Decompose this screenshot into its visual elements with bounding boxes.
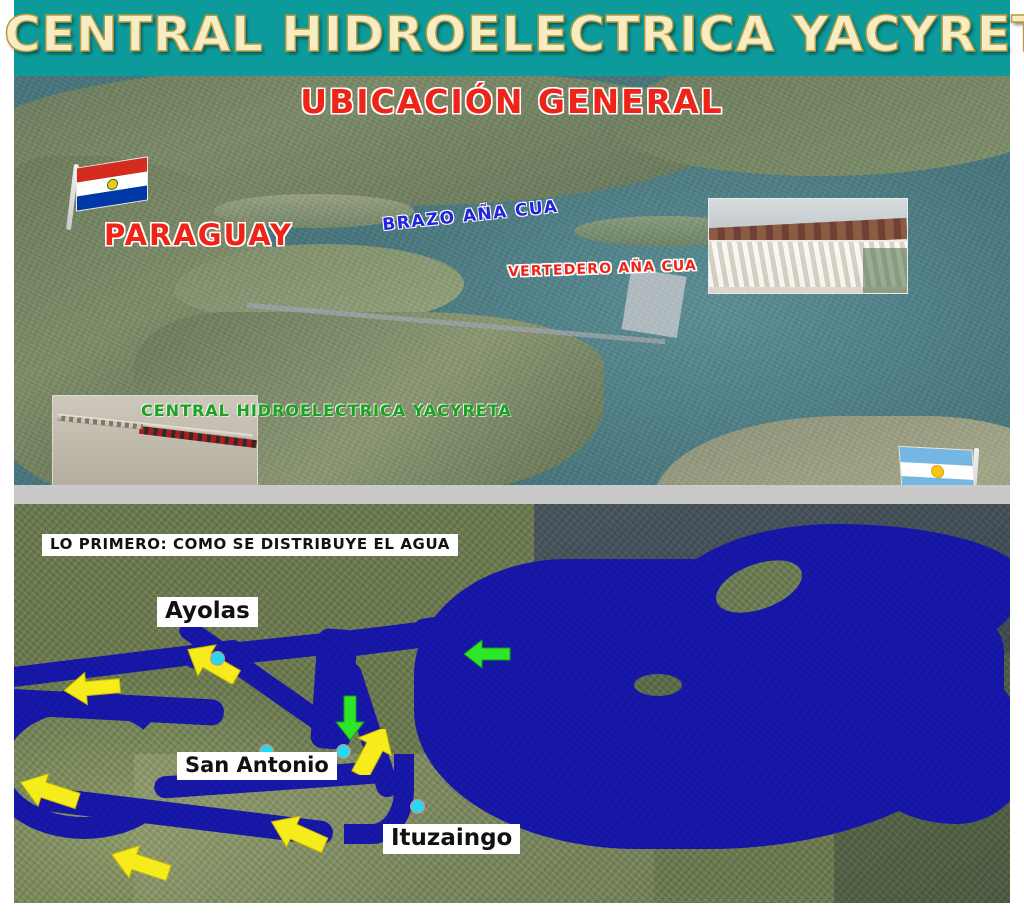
yellow-arrow-3 bbox=[19, 772, 81, 812]
place-label-ituzaingo: Ituzaingo bbox=[383, 824, 520, 854]
section-divider bbox=[14, 485, 1010, 504]
subtitle-text: UBICACIÓN GENERAL bbox=[300, 82, 723, 121]
top-satellite-map: UBICACIÓN GENERAL PARAGUAY ARGENTINA BRA… bbox=[14, 76, 1010, 485]
green-left-arrow-vbac bbox=[464, 638, 512, 670]
place-label-ayolas: Ayolas bbox=[157, 597, 258, 627]
locality-dot-san-antonio bbox=[336, 744, 351, 759]
page-title: CENTRAL HIDROELECTRICA YACYRETA bbox=[4, 6, 1020, 63]
feature-label-central-hidroelectrica: CENTRAL HIDROELECTRICA YACYRETA bbox=[141, 401, 512, 420]
green-down-arrow-chy-vbp bbox=[334, 694, 366, 742]
slide-root: CENTRAL HIDROELECTRICA YACYRETA UBICACIÓ… bbox=[0, 0, 1024, 917]
bottom-distribution-map: LO PRIMERO: COMO SE DISTRIBUYE EL AGUA V… bbox=[14, 504, 1010, 903]
title-banner: CENTRAL HIDROELECTRICA YACYRETA bbox=[14, 0, 1010, 76]
subtitle-ubicacion-general: UBICACIÓN GENERAL bbox=[14, 82, 1010, 121]
locality-dot-ituzaingo bbox=[410, 799, 425, 814]
locality-dot-ayolas bbox=[210, 651, 225, 666]
bottom-map-header: LO PRIMERO: COMO SE DISTRIBUYE EL AGUA bbox=[42, 534, 458, 556]
argentina-flag-icon bbox=[898, 446, 975, 485]
country-label-paraguay: PARAGUAY bbox=[104, 218, 293, 252]
yellow-arrow-6 bbox=[269, 814, 329, 854]
place-label-san-antonio: San Antonio bbox=[177, 752, 337, 780]
spillway-structure bbox=[621, 268, 686, 338]
yellow-arrow-2 bbox=[64, 670, 122, 706]
reservoir-island-2 bbox=[634, 674, 682, 696]
yellow-arrow-4 bbox=[110, 844, 172, 884]
inset-photo-vertedero-ana-cua bbox=[708, 198, 908, 294]
